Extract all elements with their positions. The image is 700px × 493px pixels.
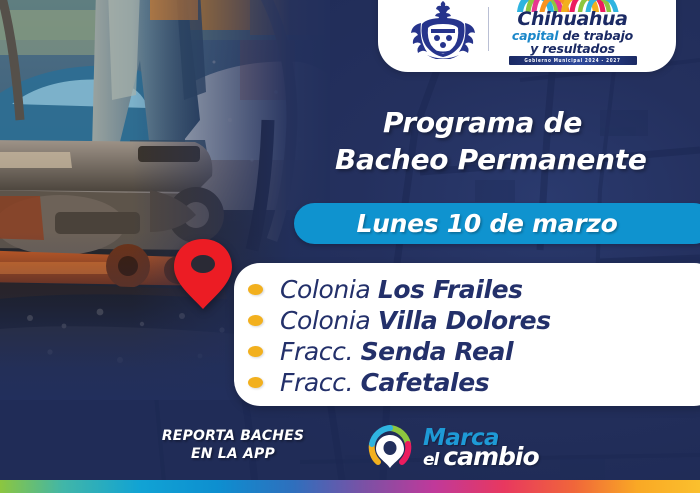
- cta-line-2: EN LA APP: [138, 446, 328, 464]
- location-text: Colonia Villa Dolores: [280, 306, 551, 335]
- marca-el-cambio-logo: Marca el cambio: [366, 424, 539, 472]
- locations-card: Colonia Los Frailes Colonia Villa Dolore…: [234, 263, 700, 406]
- location-prefix: Colonia: [280, 306, 378, 335]
- locations-list: Colonia Los Frailes Colonia Villa Dolore…: [248, 274, 700, 398]
- date-banner: Lunes 10 de marzo: [294, 203, 700, 244]
- location-prefix: Fracc.: [280, 337, 361, 366]
- brand-line1: Chihuahua: [517, 10, 627, 29]
- bullet-icon: [248, 346, 263, 357]
- title-line-2: Bacheo Permanente: [335, 141, 700, 178]
- report-app-cta: REPORTA BACHES EN LA APP: [138, 428, 328, 463]
- list-item: Fracc. Senda Real: [248, 336, 700, 367]
- brand-line3: y resultados: [530, 42, 615, 55]
- brand-footer-strip-text: Gobierno Municipal 2024 - 2027: [524, 58, 620, 64]
- list-item: Colonia Los Frailes: [248, 274, 700, 305]
- list-item: Fracc. Cafetales: [248, 367, 700, 398]
- bullet-icon: [248, 315, 263, 326]
- header-logo-panel: Chihuahua capital de trabajo y resultado…: [378, 0, 676, 72]
- location-text: Fracc. Senda Real: [280, 337, 513, 366]
- date-banner-text: Lunes 10 de marzo: [357, 209, 618, 238]
- location-prefix: Colonia: [280, 275, 378, 304]
- poster-canvas: Chihuahua capital de trabajo y resultado…: [0, 0, 700, 493]
- location-name: Los Frailes: [378, 275, 523, 304]
- location-name: Villa Dolores: [378, 306, 551, 335]
- location-name: Senda Real: [361, 337, 514, 366]
- map-pin-icon: [172, 237, 234, 311]
- location-prefix: Fracc.: [280, 368, 361, 397]
- cta-line-1: REPORTA BACHES: [138, 428, 328, 446]
- list-item: Colonia Villa Dolores: [248, 305, 700, 336]
- rainbow-footer-bar: [0, 480, 700, 493]
- bullet-icon: [248, 377, 263, 388]
- location-text: Colonia Los Frailes: [280, 275, 523, 304]
- poster-title: Programa de Bacheo Permanente: [335, 104, 700, 178]
- chihuahua-coat-of-arms-icon: [407, 0, 479, 59]
- title-line-1: Programa de: [335, 104, 700, 141]
- marca-word-2-big: cambio: [443, 442, 538, 471]
- marca-word-2-small: el: [423, 450, 443, 470]
- marca-word-2: el cambio: [423, 446, 539, 469]
- brand-footer-strip: Gobierno Municipal 2024 - 2027: [509, 56, 637, 65]
- header-divider: [488, 7, 489, 51]
- chihuahua-brand-logo: Chihuahua capital de trabajo y resultado…: [498, 0, 648, 65]
- location-text: Fracc. Cafetales: [280, 368, 489, 397]
- location-name: Cafetales: [361, 368, 490, 397]
- marca-el-cambio-pin-icon: [366, 424, 414, 472]
- bullet-icon: [248, 284, 263, 295]
